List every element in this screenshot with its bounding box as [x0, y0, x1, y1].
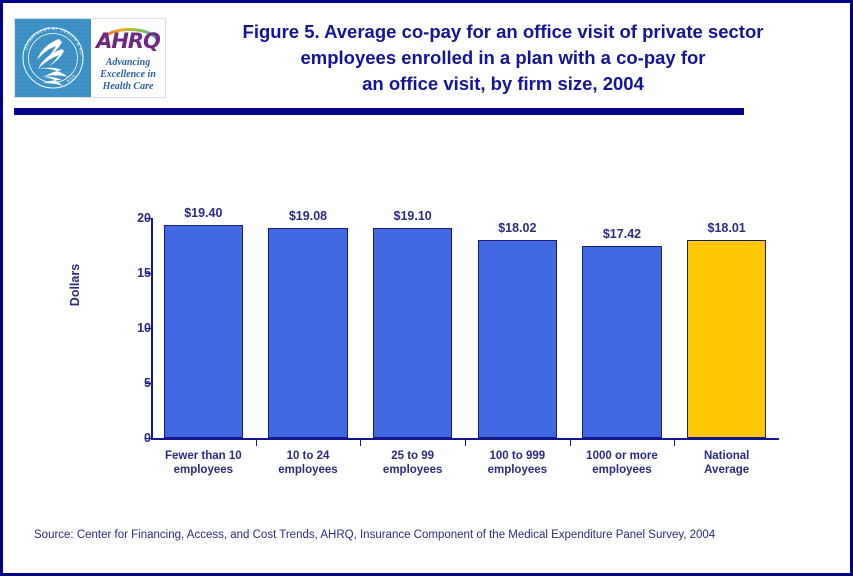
- y-axis-tick-mark: [145, 328, 151, 329]
- x-axis-tick-mark: [256, 440, 257, 446]
- tagline-line-1: Advancing: [91, 57, 165, 69]
- bar-slot: $17.42: [570, 218, 675, 438]
- bar[interactable]: [582, 246, 662, 438]
- bar-value-label: $17.42: [570, 227, 675, 241]
- figure-page: DEPARTMENT OF HEALTH & HUMAN SERVICES US…: [0, 0, 853, 576]
- bar-slot: $18.02: [465, 218, 570, 438]
- x-axis-category-label: NationalAverage: [674, 449, 779, 477]
- header-divider: [14, 108, 744, 115]
- category-label-line: Fewer than 10: [151, 449, 256, 463]
- category-label-line: Average: [674, 463, 779, 477]
- x-axis-tick-mark: [465, 440, 466, 446]
- tagline-line-2: Excellence in: [91, 69, 165, 81]
- bar[interactable]: [164, 225, 244, 438]
- header: DEPARTMENT OF HEALTH & HUMAN SERVICES US…: [3, 3, 850, 104]
- bar-chart: Dollars 05101520 $19.40$19.08$19.10$18.0…: [3, 123, 850, 513]
- ahrq-text: AHRQ: [91, 31, 165, 52]
- category-label-line: 25 to 99: [360, 449, 465, 463]
- category-label-line: 100 to 999: [465, 449, 570, 463]
- bar[interactable]: [268, 228, 348, 438]
- bar-value-label: $18.02: [465, 221, 570, 235]
- bar-slot: $18.01: [674, 218, 779, 438]
- y-axis-tick-mark: [145, 218, 151, 219]
- bar-value-label: $19.40: [151, 206, 256, 220]
- x-axis-tick-mark: [570, 440, 571, 446]
- bar-value-label: $18.01: [674, 221, 779, 235]
- category-label-line: employees: [570, 463, 675, 477]
- title-line-1: Figure 5. Average co-pay for an office v…: [173, 19, 833, 45]
- ahrq-hhs-logo: DEPARTMENT OF HEALTH & HUMAN SERVICES US…: [14, 18, 166, 98]
- title-line-2: employees enrolled in a plan with a co-p…: [173, 45, 833, 71]
- y-axis-label: Dollars: [68, 235, 82, 335]
- figure-title: Figure 5. Average co-pay for an office v…: [173, 19, 833, 97]
- x-axis-category-label: 10 to 24employees: [256, 449, 361, 477]
- x-axis-category-label: 25 to 99employees: [360, 449, 465, 477]
- bar-value-label: $19.10: [360, 209, 465, 223]
- bar-slot: $19.10: [360, 218, 465, 438]
- category-label-line: 10 to 24: [256, 449, 361, 463]
- category-label-line: employees: [151, 463, 256, 477]
- ahrq-wordmark: AHRQ Advancing Excellence in Health Care: [91, 19, 165, 97]
- category-label-line: employees: [465, 463, 570, 477]
- x-axis-category-label: 100 to 999employees: [465, 449, 570, 477]
- source-note: Source: Center for Financing, Access, an…: [34, 529, 715, 541]
- hhs-seal-icon: DEPARTMENT OF HEALTH & HUMAN SERVICES US…: [15, 19, 91, 97]
- y-axis-tick-mark: [145, 438, 151, 439]
- category-label-line: National: [674, 449, 779, 463]
- tagline-line-3: Health Care: [91, 81, 165, 93]
- bar-value-label: $19.08: [256, 209, 361, 223]
- category-label-line: employees: [256, 463, 361, 477]
- bar-slot: $19.08: [256, 218, 361, 438]
- x-axis-category-label: Fewer than 10employees: [151, 449, 256, 477]
- bar[interactable]: [373, 228, 453, 438]
- plot-area: $19.40$19.08$19.10$18.02$17.42$18.01: [151, 218, 779, 438]
- x-axis-tick-mark: [674, 440, 675, 446]
- bar[interactable]: [478, 240, 558, 438]
- category-label-line: employees: [360, 463, 465, 477]
- title-line-3: an office visit, by firm size, 2004: [173, 71, 833, 97]
- ahrq-tagline: Advancing Excellence in Health Care: [91, 57, 165, 93]
- x-axis-category-label: 1000 or moreemployees: [570, 449, 675, 477]
- bar-slot: $19.40: [151, 218, 256, 438]
- y-axis-tick-mark: [145, 273, 151, 274]
- x-axis-tick-mark: [360, 440, 361, 446]
- y-axis-tick-mark: [145, 383, 151, 384]
- category-label-line: 1000 or more: [570, 449, 675, 463]
- bar[interactable]: [687, 240, 767, 438]
